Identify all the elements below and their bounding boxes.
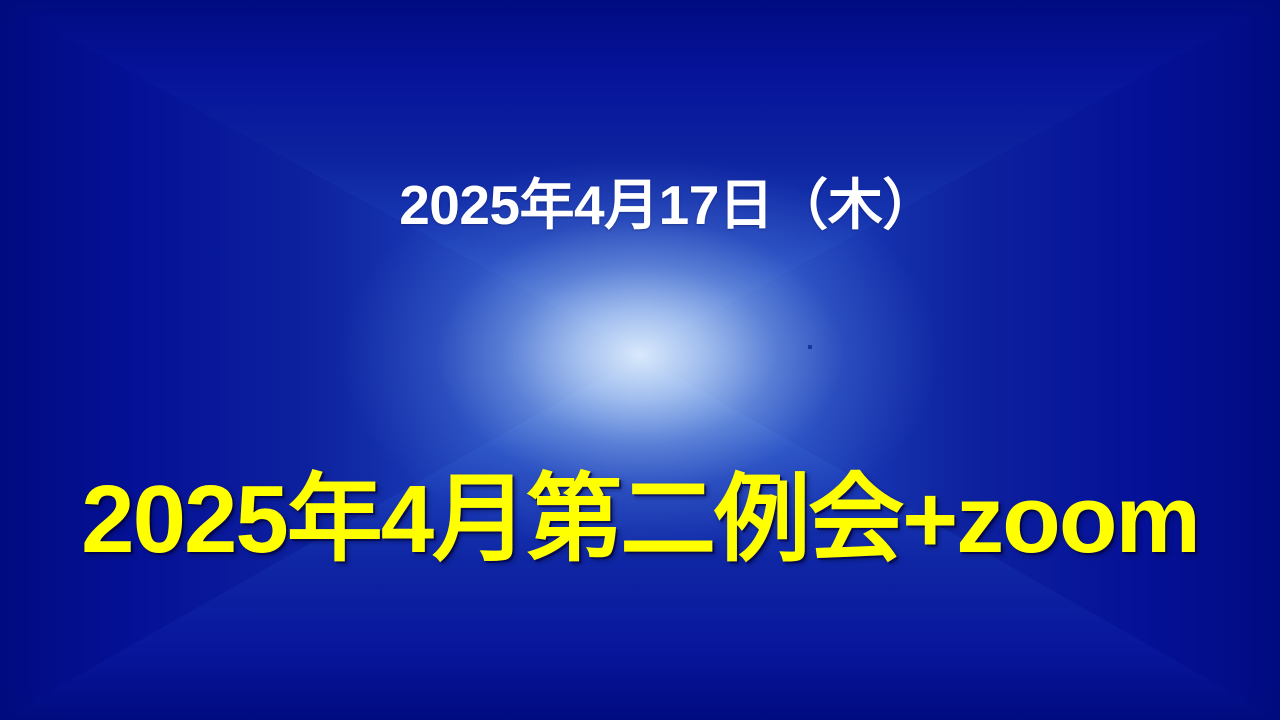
slide-headline-text: 2025年4月第二例会+zoom [0, 470, 1280, 571]
stray-dot-artifact [808, 345, 812, 349]
presentation-slide: 2025年4月17日（木） 2025年4月第二例会+zoom [0, 0, 1280, 720]
slide-date-text: 2025年4月17日（木） [0, 176, 1280, 235]
background-vignette [0, 0, 1280, 720]
